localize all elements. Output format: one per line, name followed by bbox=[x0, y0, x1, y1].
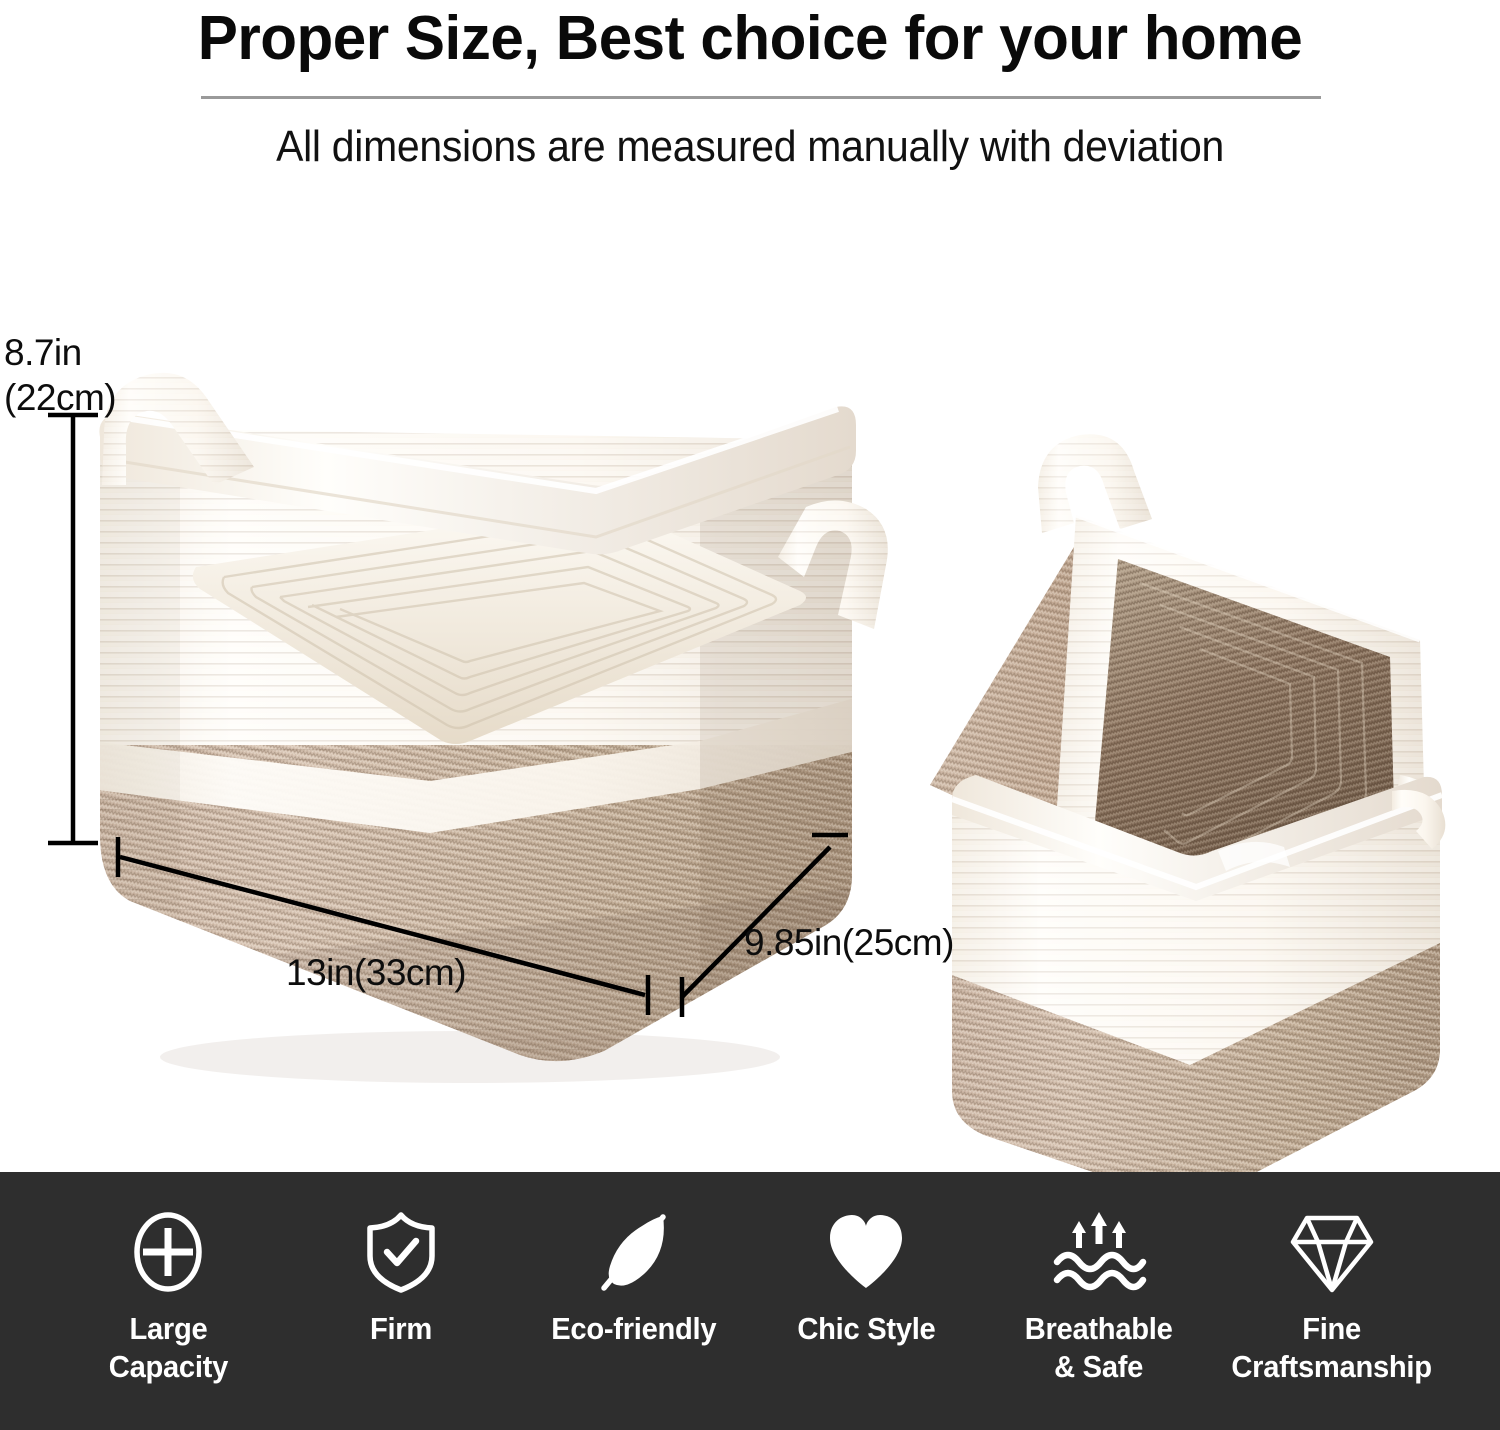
feature-label: Large Capacity bbox=[109, 1310, 228, 1386]
shield-check-icon bbox=[363, 1208, 439, 1296]
feature-large-capacity: Large Capacity bbox=[52, 1208, 285, 1386]
leaf-icon bbox=[594, 1208, 674, 1296]
feature-label: Eco-friendly bbox=[551, 1310, 716, 1348]
feature-chic-style: Chic Style bbox=[750, 1208, 983, 1348]
diamond-icon bbox=[1289, 1208, 1375, 1296]
feature-label: Chic Style bbox=[797, 1310, 935, 1348]
depth-dimension-label: 9.85in(25cm) bbox=[744, 920, 954, 965]
main-basket bbox=[90, 373, 888, 1105]
feature-bar: Large Capacity Firm Eco-friendly Chic St… bbox=[0, 1172, 1500, 1430]
feature-eco-friendly: Eco-friendly bbox=[517, 1208, 750, 1348]
width-dimension-label: 13in(33cm) bbox=[286, 950, 466, 995]
feature-firm: Firm bbox=[285, 1208, 518, 1348]
header-divider bbox=[201, 96, 1321, 99]
feature-label: Fine Craftsmanship bbox=[1232, 1310, 1432, 1386]
feature-label: Breathable & Safe bbox=[1025, 1310, 1173, 1386]
feature-fine-craftsmanship: Fine Craftsmanship bbox=[1215, 1208, 1448, 1386]
circle-plus-icon bbox=[129, 1208, 207, 1296]
basket-illustration bbox=[0, 185, 1500, 1172]
page-subtitle: All dimensions are measured manually wit… bbox=[53, 119, 1448, 175]
page-title: Proper Size, Best choice for your home bbox=[23, 2, 1478, 76]
heart-icon bbox=[824, 1208, 908, 1296]
height-dimension-label: 8.7in (22cm) bbox=[4, 330, 124, 420]
product-photo-stage: 8.7in (22cm) 13in(33cm) 9.85in(25cm) bbox=[0, 185, 1500, 1172]
feature-label: Firm bbox=[370, 1310, 432, 1348]
breathable-waves-icon bbox=[1047, 1208, 1151, 1296]
header: Proper Size, Best choice for your home A… bbox=[0, 0, 1500, 185]
feature-breathable-safe: Breathable & Safe bbox=[983, 1208, 1216, 1386]
